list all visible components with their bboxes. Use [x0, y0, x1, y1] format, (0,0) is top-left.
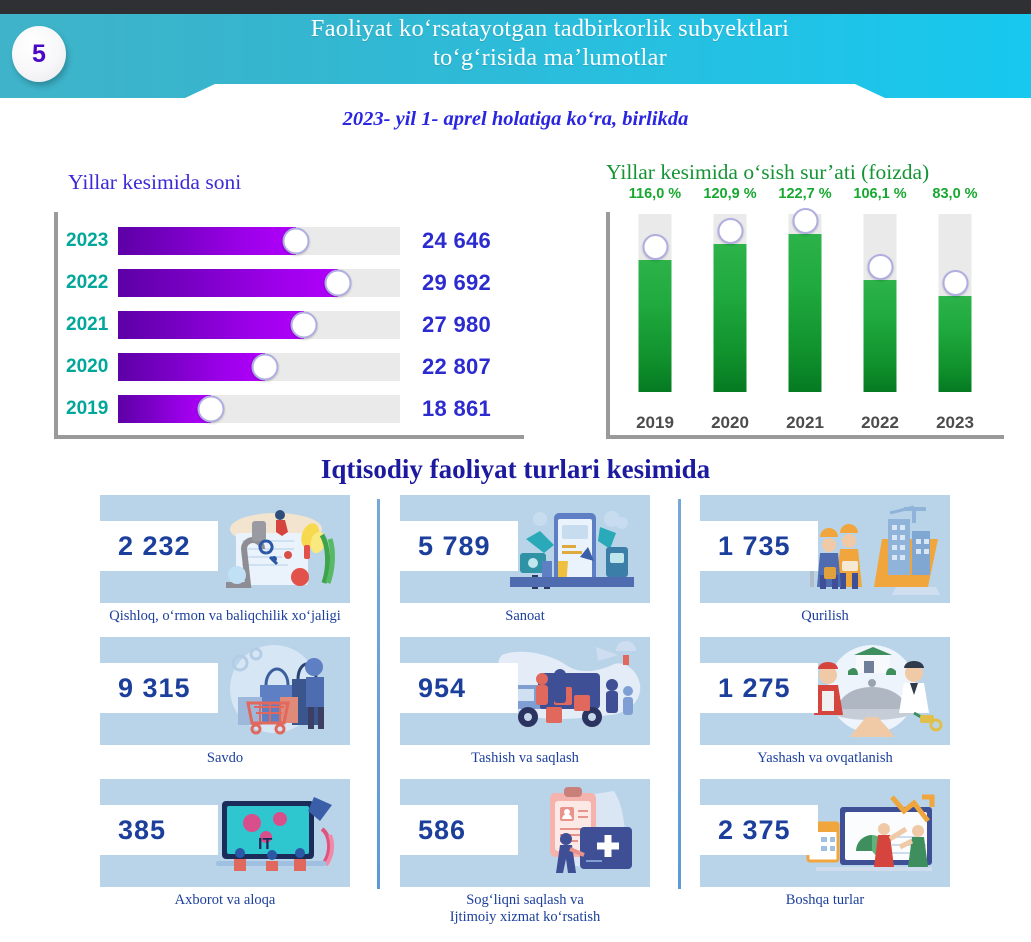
shopping-icon [196, 641, 346, 741]
bar-fill [118, 353, 265, 381]
bar-knob[interactable] [198, 396, 225, 423]
column-track [864, 214, 897, 392]
industry-robot-icon [496, 499, 646, 599]
it-computer-icon: IT [196, 783, 346, 883]
activity-cards-grid: 2 232Qishloq, o‘rmon va baliqchilik xo‘j… [0, 495, 1031, 925]
bar-track [118, 311, 400, 339]
activity-card-value: 1 275 [700, 663, 818, 713]
activity-card: 1 275Yashash va ovqatlanish [700, 637, 950, 773]
page-title: Faoliyat ko‘rsatayotgan tadbirkorlik sub… [190, 14, 910, 72]
column-knob[interactable] [942, 270, 968, 296]
activity-card-label: Qurilish [700, 603, 950, 631]
activity-card-label: Sanoat [400, 603, 650, 631]
right-chart-title: Yillar kesimida o‘sish sur’ati (foizda) [606, 160, 929, 185]
bar-track [118, 395, 400, 423]
activity-card: 9 315Savdo [100, 637, 350, 773]
bar-row: 202022 807 [58, 352, 524, 382]
activity-card-image: 1 735 [700, 495, 950, 603]
subtitle: 2023- yil 1- aprel holatiga ko‘ra, birli… [0, 108, 1031, 131]
bar-row: 202229 692 [58, 268, 524, 298]
column-track [789, 214, 822, 392]
bar-fill [118, 311, 304, 339]
activity-card-image: 9 315 [100, 637, 350, 745]
health-clipboard-icon [496, 783, 646, 883]
activity-card-label: Qishloq, o‘rmon va baliqchilik xo‘jaligi [100, 603, 350, 631]
activity-card-value: 2 375 [700, 805, 818, 855]
activity-card-value: 9 315 [100, 663, 218, 713]
activity-card-value: 1 735 [700, 521, 818, 571]
bar-fill [118, 269, 338, 297]
column-year-label: 2020 [693, 413, 767, 433]
right-column-chart: 116,0 %2019120,9 %2020122,7 %2021106,1 %… [606, 212, 1004, 439]
activity-card-label: Yashash va ovqatlanish [700, 745, 950, 773]
activity-card: IT385Axborot va aloqa [100, 779, 350, 915]
column-fill [939, 296, 972, 392]
bar-value-label: 24 646 [422, 228, 491, 254]
column-fill [864, 280, 897, 392]
activity-card-value: 586 [400, 805, 518, 855]
bar-row: 202324 646 [58, 226, 524, 256]
activity-card-value: 385 [100, 805, 218, 855]
activity-card: 586Sog‘liqni saqlash vaIjtimoiy xizmat k… [400, 779, 650, 932]
analytics-board-icon [796, 783, 946, 883]
activity-card-label-line1: Sog‘liqni saqlash va [400, 892, 650, 909]
activity-card: 1 735Qurilish [700, 495, 950, 631]
bar-year-label: 2019 [58, 398, 118, 420]
column-percent-label: 116,0 % [618, 186, 692, 202]
column-knob[interactable] [642, 234, 668, 260]
column-knob[interactable] [792, 208, 818, 234]
column-knob[interactable] [717, 218, 743, 244]
activity-card-image: 5 789 [400, 495, 650, 603]
column-percent-label: 120,9 % [693, 186, 767, 202]
bar-year-label: 2021 [58, 314, 118, 336]
column-percent-label: 122,7 % [768, 186, 842, 202]
slide-number: 5 [32, 40, 46, 69]
column-track [939, 214, 972, 392]
page-title-line2: to‘g‘risida ma’lumotlar [190, 43, 910, 72]
column-fill [789, 234, 822, 392]
bar-knob[interactable] [324, 270, 351, 297]
left-chart-title: Yillar kesimida soni [68, 170, 241, 195]
hospitality-tray-icon [796, 641, 946, 741]
bar-knob[interactable] [291, 312, 318, 339]
page-title-line1: Faoliyat ko‘rsatayotgan tadbirkorlik sub… [190, 14, 910, 43]
column-year-label: 2019 [618, 413, 692, 433]
activity-card-label: Axborot va aloqa [100, 887, 350, 915]
bar-value-label: 27 980 [422, 312, 491, 338]
bar-track [118, 353, 400, 381]
section-title: Iqtisodiy faoliyat turlari kesimida [0, 454, 1031, 485]
bar-year-label: 2020 [58, 356, 118, 378]
column-track [714, 214, 747, 392]
cards-column-1: 2 232Qishloq, o‘rmon va baliqchilik xo‘j… [100, 495, 400, 921]
bar-value-label: 29 692 [422, 270, 491, 296]
column-group: 122,7 %2021 [768, 212, 842, 435]
column-knob[interactable] [867, 254, 893, 280]
column-year-label: 2022 [843, 413, 917, 433]
bar-fill [118, 227, 296, 255]
activity-card: 2 232Qishloq, o‘rmon va baliqchilik xo‘j… [100, 495, 350, 631]
activity-card-image: 2 375 [700, 779, 950, 887]
activity-card-value: 954 [400, 663, 518, 713]
activity-card-image: 1 275 [700, 637, 950, 745]
column-year-label: 2023 [918, 413, 992, 433]
bar-track [118, 227, 400, 255]
activity-card-label: Tashish va saqlash [400, 745, 650, 773]
activity-card-label: Sog‘liqni saqlash vaIjtimoiy xizmat ko‘r… [400, 887, 650, 932]
column-percent-label: 83,0 % [918, 186, 992, 202]
column-group: 106,1 %2022 [843, 212, 917, 435]
top-dark-strip [0, 0, 1031, 14]
bar-row: 202127 980 [58, 310, 524, 340]
column-group: 120,9 %2020 [693, 212, 767, 435]
activity-card-label: Boshqa turlar [700, 887, 950, 915]
bar-knob[interactable] [282, 228, 309, 255]
activity-card-label-line2: Ijtimoiy xizmat ko‘rsatish [400, 909, 650, 926]
bar-knob[interactable] [251, 354, 278, 381]
activity-card-image: 2 232 [100, 495, 350, 603]
agriculture-icon [196, 499, 346, 599]
bar-track [118, 269, 400, 297]
truck-delivery-icon [496, 641, 646, 741]
construction-icon [796, 499, 946, 599]
bar-value-label: 22 807 [422, 354, 491, 380]
activity-card: 5 789Sanoat [400, 495, 650, 631]
bar-value-label: 18 861 [422, 396, 491, 422]
activity-card: 954Tashish va saqlash [400, 637, 650, 773]
activity-card-image: 954 [400, 637, 650, 745]
column-year-label: 2021 [768, 413, 842, 433]
column-fill [639, 260, 672, 392]
column-group: 83,0 %2023 [918, 212, 992, 435]
activity-card-image: 586 [400, 779, 650, 887]
column-track [639, 214, 672, 392]
activity-card-value: 5 789 [400, 521, 518, 571]
cards-column-2: 5 789Sanoat954Tashish va saqlash586Sog‘l… [400, 495, 700, 938]
activity-card: 2 375Boshqa turlar [700, 779, 950, 915]
column-group: 116,0 %2019 [618, 212, 692, 435]
activity-card-label: Savdo [100, 745, 350, 773]
left-bar-chart: 202324 646202229 692202127 980202022 807… [54, 212, 524, 439]
column-percent-label: 106,1 % [843, 186, 917, 202]
bar-row: 201918 861 [58, 394, 524, 424]
slide-number-badge: 5 [12, 26, 66, 82]
bar-year-label: 2023 [58, 230, 118, 252]
column-fill [714, 244, 747, 392]
bar-year-label: 2022 [58, 272, 118, 294]
infographic-page: Faoliyat ko‘rsatayotgan tadbirkorlik sub… [0, 0, 1031, 942]
activity-card-image: IT385 [100, 779, 350, 887]
cards-column-3: 1 735Qurilish1 275Yashash va ovqatlanish… [700, 495, 1000, 921]
activity-card-value: 2 232 [100, 521, 218, 571]
banner-bottom-white-strip [215, 84, 855, 98]
